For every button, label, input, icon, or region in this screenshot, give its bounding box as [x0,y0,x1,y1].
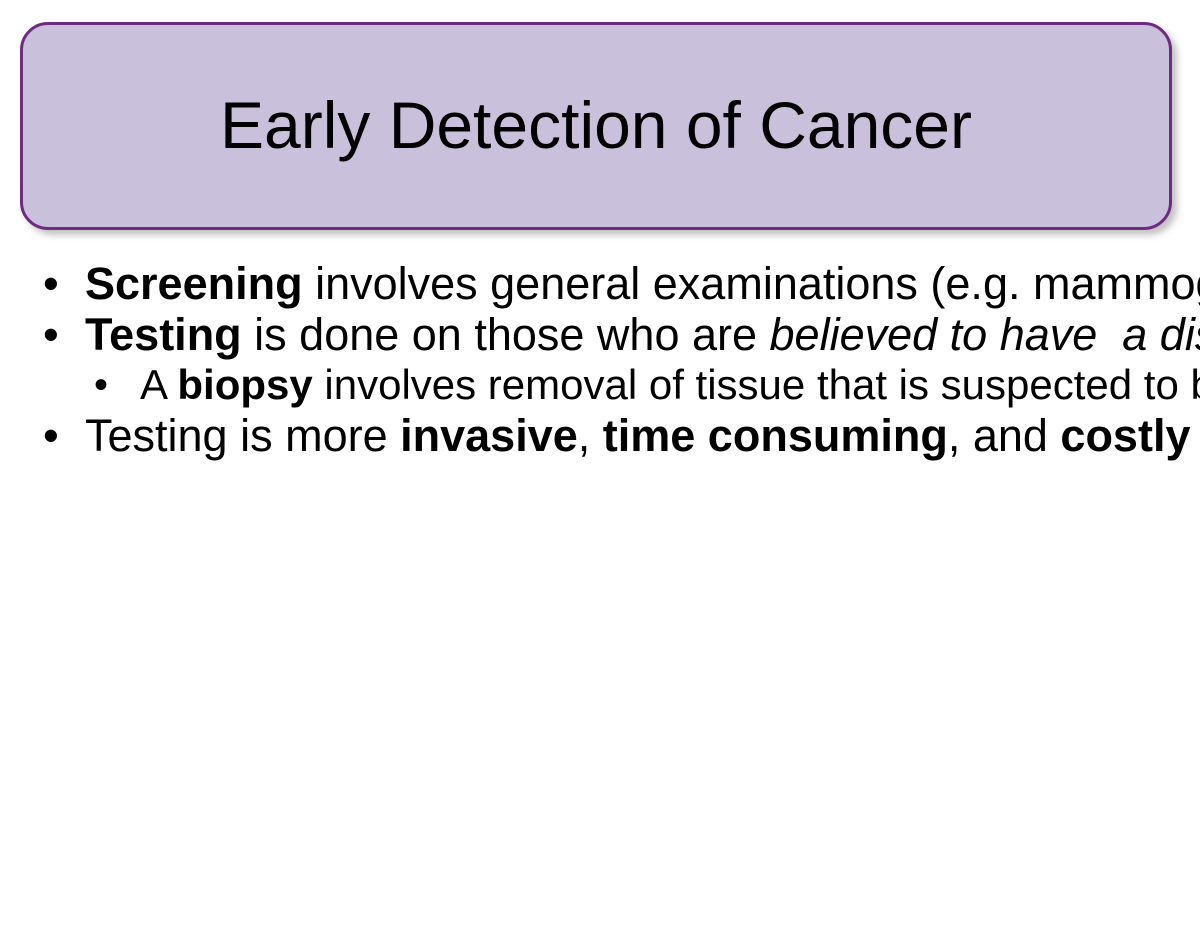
list-item: • Screening involves general examination… [0,258,1200,309]
bullet-list: • Screening involves general examination… [0,258,1200,461]
list-item-text: Testing is more invasive, time consuming… [85,410,1122,461]
page-title: Early Detection of Cancer [220,91,972,160]
list-item-text: A biopsy involves removal of tissue that… [140,360,1118,410]
list-item: • Testing is more invasive, time consumi… [0,410,1200,461]
list-item: • Testing is done on those who are belie… [0,309,1200,360]
bullet-marker-icon: • [94,360,124,410]
bullet-marker-icon: • [43,258,73,309]
bullet-marker-icon: • [43,309,73,360]
list-item-text: Testing is done on those who are believe… [85,309,1122,360]
slide: Early Detection of Cancer • Screening in… [0,0,1200,927]
list-item-sub: • A biopsy involves removal of tissue th… [0,360,1200,410]
list-item-text: Screening involves general examinations … [85,258,1122,309]
title-banner: Early Detection of Cancer [20,22,1172,230]
bullet-marker-icon: • [43,410,73,461]
